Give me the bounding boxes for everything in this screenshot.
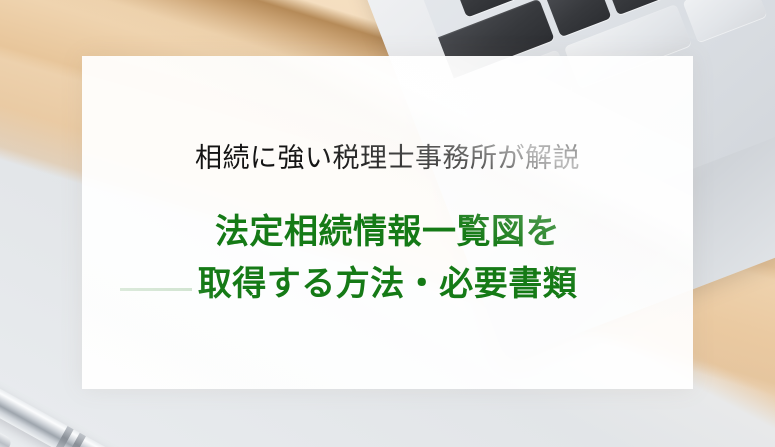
title-card: 相続に強い税理士事務所が解説 法定相続情報一覧図を 取得する方法・必要書類 <box>82 56 693 389</box>
article-thumbnail-banner: 相続に強い税理士事務所が解説 法定相続情報一覧図を 取得する方法・必要書類 <box>0 0 775 447</box>
pen-band-a <box>55 426 74 447</box>
subtitle-text: 相続に強い税理士事務所が解説 <box>82 145 693 172</box>
title-line-2: 取得する方法・必要書類 <box>82 258 693 310</box>
key-bottom-3 <box>682 0 767 42</box>
page-title: 法定相続情報一覧図を 取得する方法・必要書類 <box>82 206 693 310</box>
title-line-1: 法定相続情報一覧図を <box>82 206 693 258</box>
